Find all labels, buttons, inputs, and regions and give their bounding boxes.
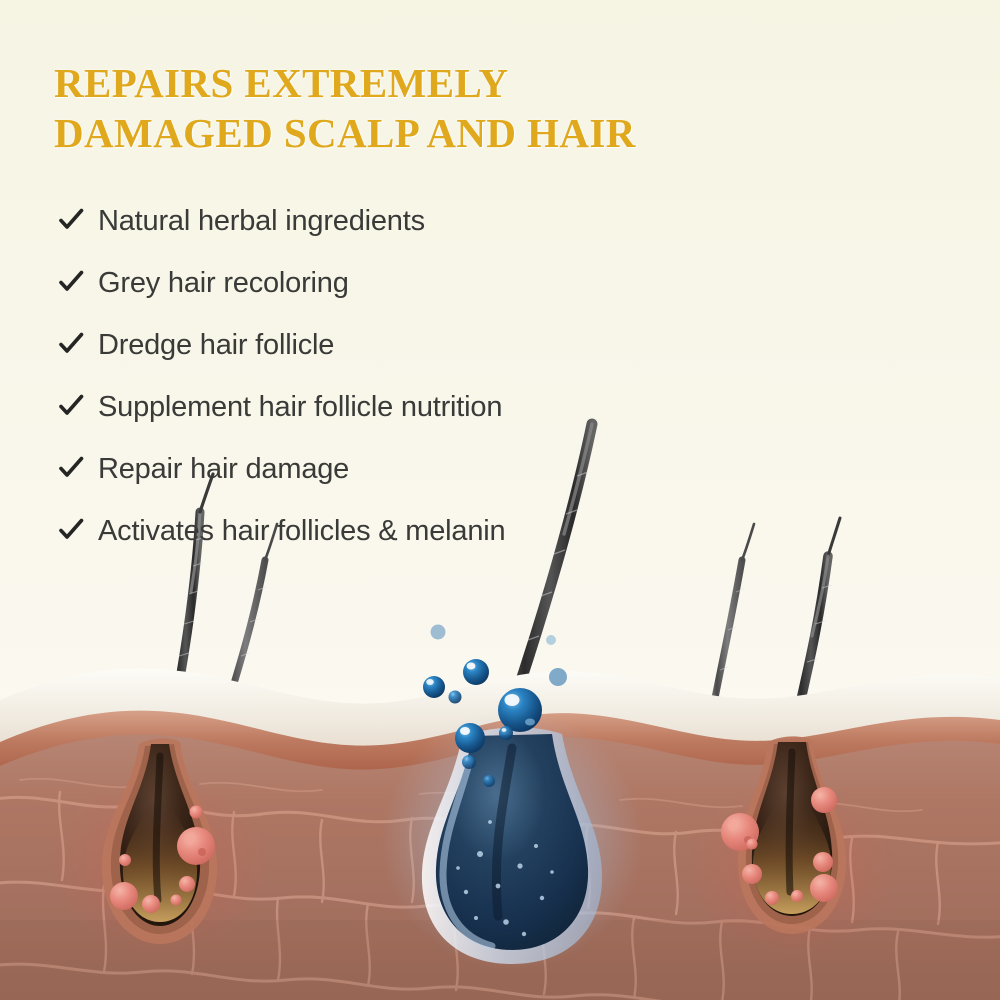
list-item: Grey hair recoloring	[58, 266, 818, 328]
check-mark-icon	[58, 517, 84, 543]
headline-line-2: DAMAGED SCALP AND HAIR	[54, 108, 874, 158]
check-mark-icon	[58, 331, 84, 357]
benefits-list: Natural herbal ingredients Grey hair rec…	[58, 204, 818, 576]
droplet	[431, 625, 446, 640]
headline-line-1: REPAIRS EXTREMELY	[54, 60, 508, 106]
list-item-label: Repair hair damage	[98, 453, 349, 486]
page-title: REPAIRS EXTREMELY DAMAGED SCALP AND HAIR	[54, 58, 874, 158]
droplet	[455, 723, 485, 753]
droplet	[483, 775, 495, 787]
check-mark-icon	[58, 207, 84, 233]
list-item-label: Activates hair follicles & melanin	[98, 515, 505, 548]
list-item-label: Natural herbal ingredients	[98, 205, 425, 238]
list-item-label: Supplement hair follicle nutrition	[98, 391, 502, 424]
list-item: Activates hair follicles & melanin	[58, 514, 818, 576]
follicle-center-treated	[382, 710, 642, 970]
list-item: Repair hair damage	[58, 452, 818, 514]
check-mark-icon	[58, 269, 84, 295]
list-item-label: Grey hair recoloring	[98, 267, 349, 300]
list-item: Supplement hair follicle nutrition	[58, 390, 818, 452]
list-item: Dredge hair follicle	[58, 328, 818, 390]
droplet	[499, 726, 513, 740]
list-item-label: Dredge hair follicle	[98, 329, 334, 362]
droplet	[462, 755, 476, 769]
check-mark-icon	[58, 455, 84, 481]
list-item: Natural herbal ingredients	[58, 204, 818, 266]
infographic-canvas: REPAIRS EXTREMELY DAMAGED SCALP AND HAIR…	[0, 0, 1000, 1000]
check-mark-icon	[58, 393, 84, 419]
